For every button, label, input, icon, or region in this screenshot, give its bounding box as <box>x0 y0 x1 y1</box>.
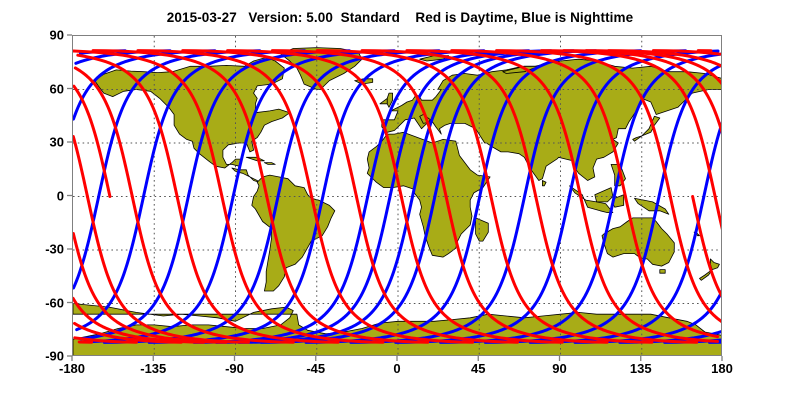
landmass <box>542 181 546 186</box>
x-tick-label: 135 <box>606 361 676 376</box>
x-tick-label: -45 <box>281 361 351 376</box>
landmass <box>635 198 669 214</box>
y-tick-label: -30 <box>4 242 64 257</box>
plot-area <box>72 35 722 356</box>
figure-canvas: 2015-03-27 Version: 5.00 Standard Red is… <box>0 0 800 400</box>
x-tick-label: 180 <box>687 361 757 376</box>
daytime-track <box>73 137 87 197</box>
x-tick-label: 45 <box>443 361 513 376</box>
plot-frame <box>72 35 722 356</box>
landmass <box>380 98 387 103</box>
landmass <box>595 188 613 202</box>
y-tick-label: 30 <box>4 135 64 150</box>
y-tick-label: 60 <box>4 81 64 96</box>
chart-title: 2015-03-27 Version: 5.00 Standard Red is… <box>0 10 800 25</box>
daytime-track <box>87 197 248 343</box>
landmass <box>264 163 275 165</box>
y-tick-label: 90 <box>4 28 64 43</box>
x-tick-label: -180 <box>37 361 107 376</box>
daytime-track <box>715 197 722 232</box>
y-tick-label: -60 <box>4 295 64 310</box>
y-tick-label: 0 <box>4 188 64 203</box>
landmass <box>660 270 665 274</box>
landmass <box>246 157 264 161</box>
landmass <box>476 218 489 241</box>
landmass <box>602 218 674 266</box>
x-tick-label: 90 <box>525 361 595 376</box>
x-tick-label: 0 <box>362 361 432 376</box>
ground-track-map <box>73 36 722 356</box>
x-tick-label: -135 <box>118 361 188 376</box>
x-tick-label: -90 <box>200 361 270 376</box>
